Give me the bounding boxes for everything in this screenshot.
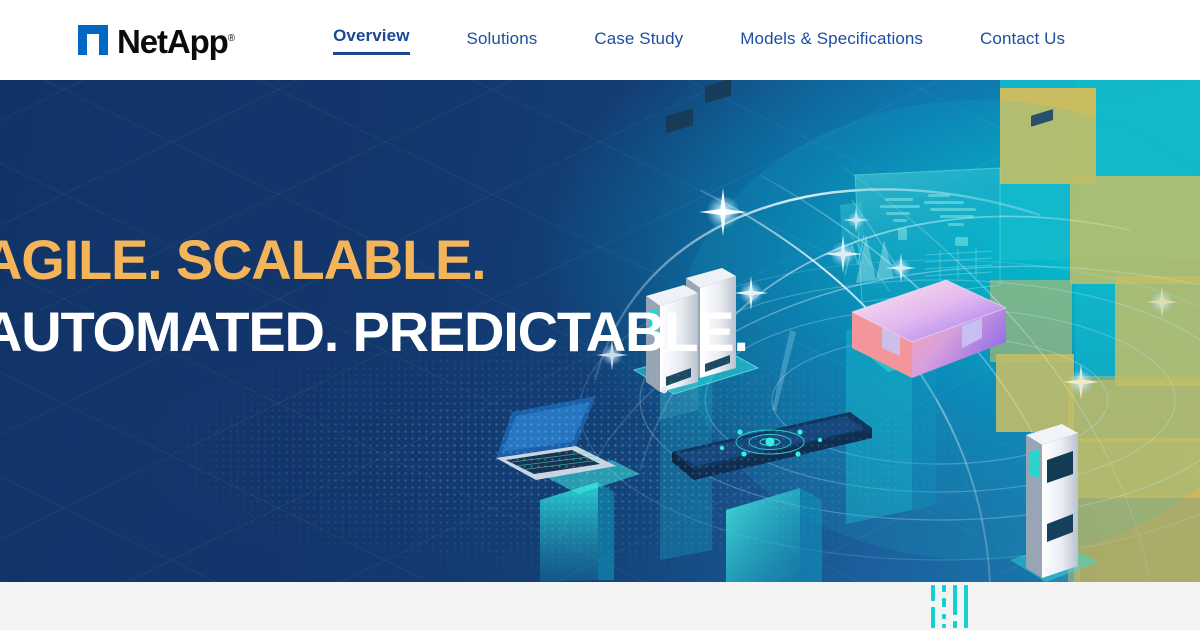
- nav-item-overview[interactable]: Overview: [333, 26, 409, 55]
- site-header: NetApp® Overview Solutions Case Study Mo…: [0, 0, 1200, 80]
- nav-item-models-specifications[interactable]: Models & Specifications: [740, 29, 923, 52]
- netapp-logo[interactable]: NetApp®: [78, 24, 235, 57]
- world-map-hologram-icon: [855, 168, 1000, 302]
- netapp-data-bars-icon: [929, 583, 973, 630]
- logo-wordmark-text: NetApp: [117, 23, 228, 60]
- hero-headline: AGILE. SCALABLE. AUTOMATED. PREDICTABLE.: [0, 232, 748, 360]
- nav-item-case-study[interactable]: Case Study: [594, 29, 683, 52]
- page-root: NetApp® Overview Solutions Case Study Mo…: [0, 0, 1200, 630]
- registered-trademark-icon: ®: [228, 33, 235, 44]
- nav-item-solutions[interactable]: Solutions: [467, 29, 538, 52]
- site-footer: [0, 582, 1200, 630]
- nav-item-contact-us[interactable]: Contact Us: [980, 29, 1065, 52]
- hero-headline-line-2: AUTOMATED. PREDICTABLE.: [0, 304, 748, 360]
- netapp-n-logo-icon: [78, 25, 108, 55]
- hero-banner: AGILE. SCALABLE. AUTOMATED. PREDICTABLE.: [0, 80, 1200, 582]
- logo-wordmark: NetApp®: [117, 25, 235, 58]
- main-navigation: Overview Solutions Case Study Models & S…: [333, 26, 1065, 55]
- hero-headline-line-1: AGILE. SCALABLE.: [0, 232, 748, 288]
